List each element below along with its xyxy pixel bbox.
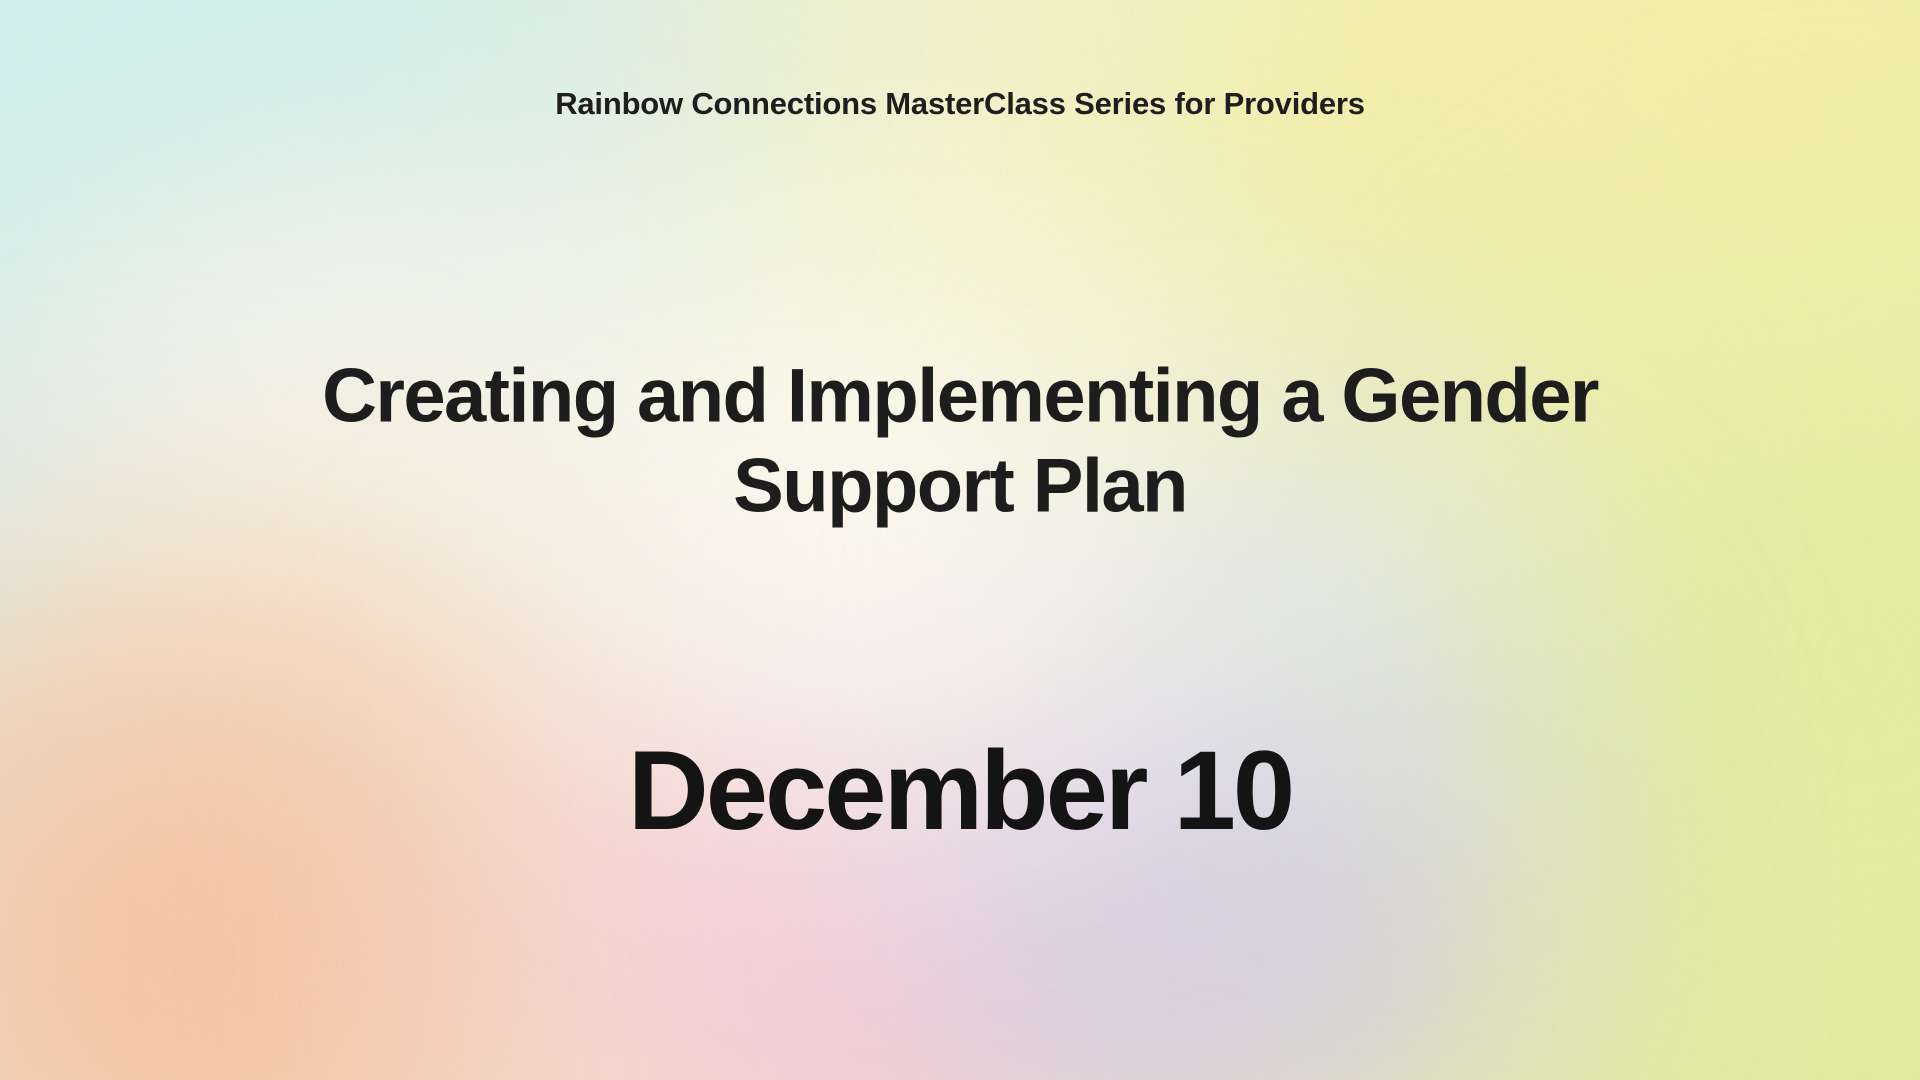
event-date: December 10 (0, 735, 1920, 847)
page-title-line-1: Creating and Implementing a Gender (180, 351, 1740, 441)
title-slide: Rainbow Connections MasterClass Series f… (0, 0, 1920, 1080)
slide-content: Rainbow Connections MasterClass Series f… (0, 0, 1920, 1080)
page-title-line-2: Support Plan (180, 441, 1740, 531)
series-eyebrow: Rainbow Connections MasterClass Series f… (0, 86, 1920, 122)
page-title: Creating and Implementing a Gender Suppo… (180, 351, 1740, 530)
